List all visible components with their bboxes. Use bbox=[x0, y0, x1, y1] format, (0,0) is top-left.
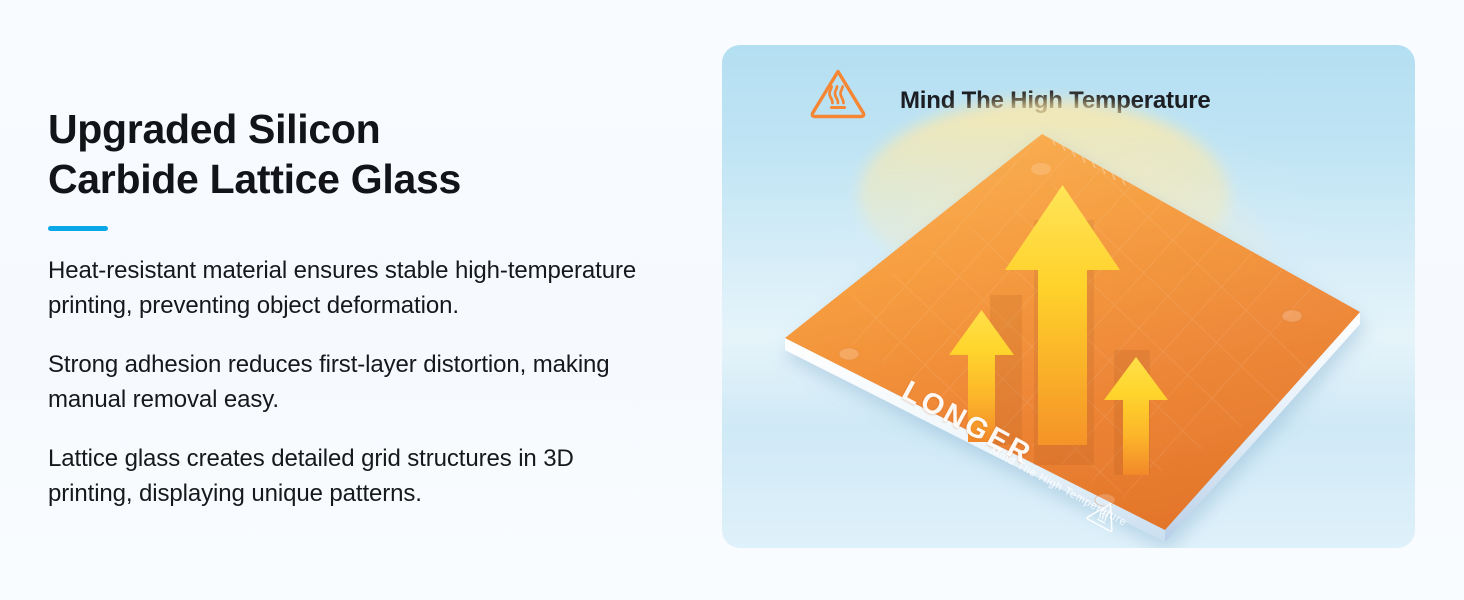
product-image-card: Mind The High Temperature bbox=[722, 45, 1415, 548]
feature-paragraph-1: Heat-resistant material ensures stable h… bbox=[48, 253, 648, 323]
feature-paragraph-2: Strong adhesion reduces first-layer dist… bbox=[48, 347, 648, 417]
promo-banner: Upgraded Silicon Carbide Lattice Glass H… bbox=[0, 0, 1464, 600]
build-plate-illustration bbox=[722, 45, 1415, 548]
accent-underline bbox=[48, 226, 108, 231]
page-title: Upgraded Silicon Carbide Lattice Glass bbox=[48, 104, 688, 204]
feature-text-column: Upgraded Silicon Carbide Lattice Glass H… bbox=[48, 104, 688, 511]
card-stage: Mind The High Temperature bbox=[722, 45, 1415, 548]
feature-paragraph-3: Lattice glass creates detailed grid stru… bbox=[48, 441, 648, 511]
